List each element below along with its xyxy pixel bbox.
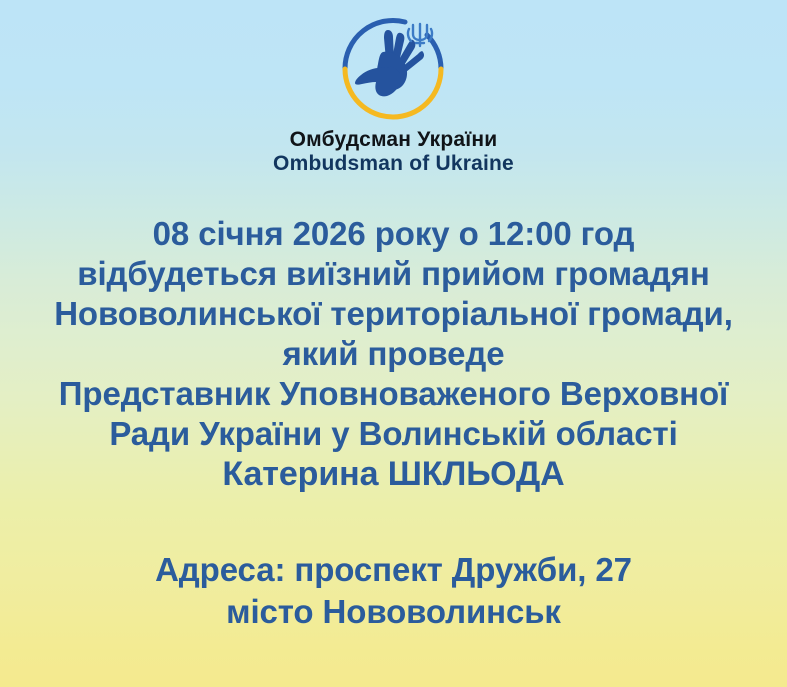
- address-street-line: Адреса: проспект Дружби, 27: [0, 549, 787, 591]
- address-text: Адреса: проспект Дружби, 27 місто Новово…: [0, 549, 787, 633]
- ombudsman-logo: Омбудсман України Ombudsman of Ukraine: [273, 12, 514, 176]
- announcement-line-2: відбудеться виїзний прийом громадян: [0, 254, 787, 294]
- hand-dove-figure: [355, 30, 424, 96]
- announcement-line-5: Представник Уповноваженого Верховної: [0, 374, 787, 414]
- announcement-line-4: який проведе: [0, 334, 787, 374]
- announcement-poster: Омбудсман України Ombudsman of Ukraine 0…: [0, 0, 787, 687]
- human-rights-hand-dove-emblem-icon: [331, 12, 455, 124]
- announcement-line-6: Ради України у Волинській області: [0, 414, 787, 454]
- announcement-line-3: Нововолинської територіальної громади,: [0, 294, 787, 334]
- representative-name: Катерина ШКЛЬОДА: [0, 454, 787, 494]
- announcement-text: 08 січня 2026 року о 12:00 год відбудеть…: [0, 214, 787, 494]
- address-city-line: місто Нововолинськ: [0, 591, 787, 633]
- logo-wordmark: Омбудсман України Ombudsman of Ukraine: [273, 128, 514, 176]
- logo-wordmark-english: Ombudsman of Ukraine: [273, 152, 514, 176]
- announcement-line-1: 08 січня 2026 року о 12:00 год: [0, 214, 787, 254]
- logo-wordmark-ukrainian: Омбудсман України: [273, 128, 514, 152]
